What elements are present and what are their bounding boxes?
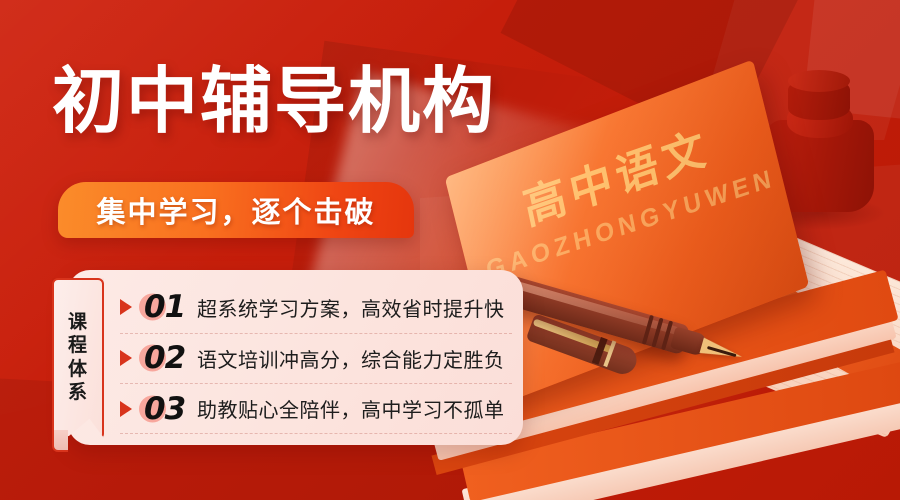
subtitle-ribbon: 集中学习，逐个击破	[58, 182, 414, 238]
item-number-wrap: 03	[135, 391, 197, 427]
item-number-wrap: 02	[135, 340, 197, 376]
item-text: 助教贴心全陪伴，高中学习不孤单	[197, 394, 505, 423]
promo-banner: 高中语文 GAOZHONGYUWEN 初中辅导机构 集中学习，逐个击破 课 程	[0, 0, 900, 500]
triangle-bullet-icon	[120, 350, 132, 366]
item-number: 02	[135, 340, 197, 376]
item-text: 超系统学习方案，高效省时提升快	[197, 293, 505, 322]
tab-char-2: 程	[68, 335, 88, 357]
course-system-tab: 课 程 体 系	[52, 278, 104, 438]
item-number-wrap: 01	[135, 289, 197, 325]
list-item[interactable]: 03 助教贴心全陪伴，高中学习不孤单	[120, 383, 512, 433]
course-items-list: 01 超系统学习方案，高效省时提升快 02 语文培训冲高分，综合能力定胜负 03	[120, 282, 512, 433]
item-number: 03	[135, 391, 197, 427]
page-title: 初中辅导机构	[52, 66, 496, 138]
triangle-bullet-icon	[120, 401, 132, 417]
item-number: 01	[135, 289, 197, 325]
list-item[interactable]: 02 语文培训冲高分，综合能力定胜负	[120, 333, 512, 383]
list-item[interactable]: 01 超系统学习方案，高效省时提升快	[120, 282, 512, 332]
course-system-card: 课 程 体 系 01 超系统学习方案，高效省时提升快 02 语	[68, 270, 523, 445]
tab-char-3: 体	[68, 359, 88, 381]
triangle-bullet-icon	[120, 299, 132, 315]
book-cover-title: 高中语文	[517, 111, 715, 238]
item-text: 语文培训冲高分，综合能力定胜负	[197, 344, 505, 373]
subtitle-text: 集中学习，逐个击破	[96, 189, 375, 231]
ink-bottle-cap-top	[788, 70, 850, 92]
tab-char-1: 课	[68, 312, 88, 334]
course-system-tab-tail	[52, 430, 68, 452]
tab-char-4: 系	[68, 382, 88, 404]
